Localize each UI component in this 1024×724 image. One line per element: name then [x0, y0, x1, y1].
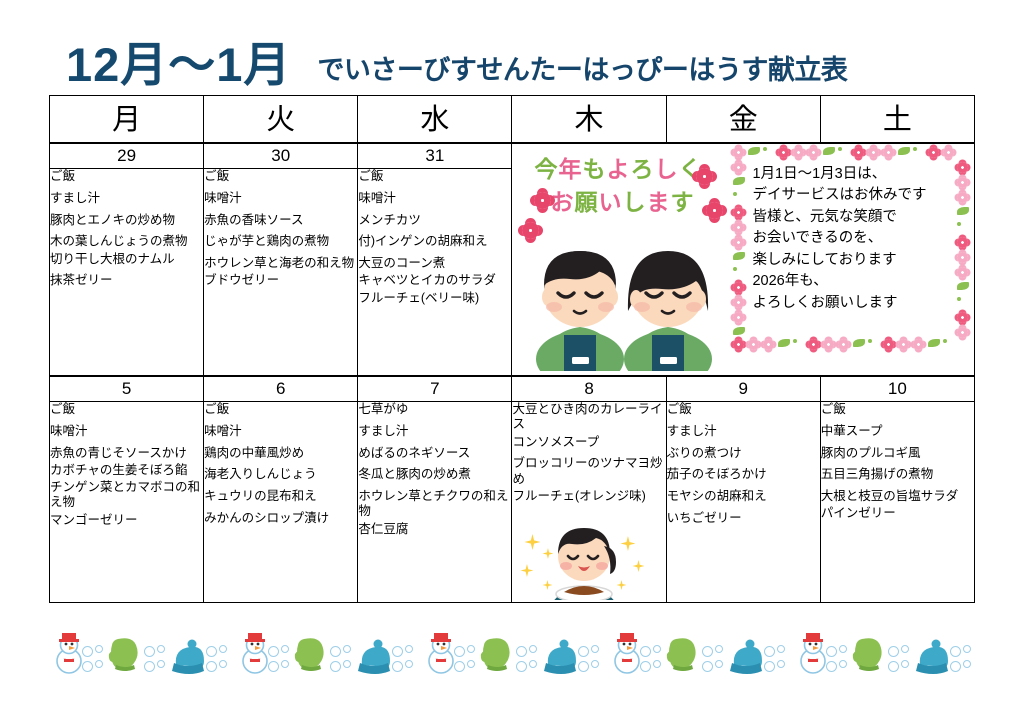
- date-number-5: 5: [50, 376, 204, 402]
- flower-icon: [957, 312, 968, 323]
- flower-icon: [823, 339, 834, 350]
- menu-item: ご飯: [667, 402, 820, 417]
- menu-item: 杏仁豆腐: [358, 522, 511, 537]
- menu-item: キャベツとイカのサラダ: [358, 273, 511, 288]
- mitten-icon: [294, 635, 328, 671]
- menu-item: キュウリの昆布和え: [204, 489, 357, 504]
- menu-item: 赤魚の香味ソース: [204, 213, 357, 228]
- menu-cell-5: ご飯 味噌汁 赤魚の青じそソースかけ カボチャの生姜そぼろ餡 チンゲン菜とカマボ…: [50, 402, 204, 603]
- snow-dot-icon: [219, 660, 227, 668]
- mitten-icon: [852, 635, 886, 671]
- menu-item: 味噌汁: [204, 424, 357, 439]
- flower-icon: [853, 147, 864, 158]
- curry-girl-illustration: [512, 518, 665, 600]
- snow-dot-icon: [206, 646, 217, 657]
- menu-item: 大根と枝豆の旨塩サラダ: [821, 489, 974, 504]
- snow-dot-icon: [95, 645, 103, 653]
- snow-dot-icon: [591, 645, 599, 653]
- menu-item: 鶏肉の中華風炒め: [204, 446, 357, 461]
- flower-icon: [957, 162, 968, 173]
- flower-icon: [808, 147, 819, 158]
- menu-item: 切り干し大根のナムル: [50, 252, 203, 267]
- snowman-icon: [240, 631, 270, 675]
- menu-item: 茄子のそぼろかけ: [667, 467, 820, 482]
- snow-dot-icon: [591, 660, 599, 668]
- menu-item: 味噌汁: [50, 424, 203, 439]
- flower-icon: [883, 147, 894, 158]
- flower-icon: [928, 147, 939, 158]
- menu-cell-7: 七草がゆ すまし汁 めばるのネギソース 冬瓜と豚肉の炒め煮 ホウレン草とチクワの…: [358, 402, 512, 603]
- week2-menu-row: ご飯 味噌汁 赤魚の青じそソースかけ カボチャの生姜そぼろ餡 チンゲン菜とカマボ…: [50, 402, 975, 603]
- notice-line: 楽しみにしております: [752, 250, 956, 271]
- menu-item: ホウレン草とチクワの和え物: [358, 489, 511, 520]
- snow-dot-icon: [343, 645, 351, 653]
- beanie-hat-icon: [542, 639, 578, 675]
- leaf-icon: [748, 147, 760, 155]
- flower-icon: [838, 339, 849, 350]
- flower-icon: [838, 147, 842, 151]
- menu-item: ご飯: [50, 169, 203, 184]
- flower-icon: [793, 339, 797, 343]
- snow-dot-icon: [343, 660, 351, 668]
- snow-dot-icon: [702, 646, 713, 657]
- menu-item: ご飯: [358, 169, 511, 184]
- snow-dot-icon: [839, 660, 847, 668]
- snow-dot-icon: [826, 646, 837, 657]
- week2-date-row: 5 6 7 8 9 10: [50, 376, 975, 402]
- menu-item: ぶりの煮つけ: [667, 446, 820, 461]
- menu-item: いちごゼリー: [667, 511, 820, 526]
- menu-item: ブドウゼリー: [204, 273, 357, 288]
- menu-item: フルーチェ(オレンジ味): [512, 489, 665, 504]
- day-header-tue: 火: [204, 96, 358, 144]
- staff-bowing-icon: [622, 231, 714, 371]
- snow-dot-icon: [839, 645, 847, 653]
- menu-cell-29: ご飯 すまし汁 豚肉とエノキの炒め物 木の葉しんじょうの煮物 切り干し大根のナム…: [50, 169, 204, 377]
- snow-dot-icon: [640, 646, 651, 657]
- flower-icon: [957, 237, 968, 248]
- notice-line: 皆様と、元気な笑顔で: [752, 207, 956, 228]
- snow-dot-icon: [82, 646, 93, 657]
- snow-dot-icon: [950, 646, 961, 657]
- flower-icon: [733, 147, 744, 158]
- snow-dot-icon: [640, 661, 651, 672]
- day-of-week-header-row: 月 火 水 木 金 土: [50, 96, 975, 144]
- menu-cell-9: ご飯 すまし汁 ぶりの煮つけ 茄子のそぼろかけ モヤシの胡麻和え いちごゼリー: [666, 402, 820, 603]
- page-header: 12月〜1月 でいさーびすせんたーはっぴーはうす献立表: [0, 26, 1024, 88]
- menu-item: ご飯: [50, 402, 203, 417]
- notice-line: よろしくお願いします: [752, 293, 956, 314]
- date-number-30: 30: [204, 143, 358, 169]
- beanie-hat-icon: [914, 639, 950, 675]
- sparkle-icon: [632, 560, 644, 572]
- snow-dot-icon: [144, 646, 155, 657]
- flower-icon: [793, 147, 804, 158]
- menu-item: 付)インゲンの胡麻和え: [358, 234, 511, 249]
- menu-item: 豚肉のプルコギ風: [821, 446, 974, 461]
- snowman-icon: [426, 631, 456, 675]
- holiday-notice: 1月1日〜1月3日は、 デイサービスはお休みです 皆様と、元気な笑顔で お会いで…: [730, 144, 974, 375]
- snow-dot-icon: [467, 660, 475, 668]
- snow-dot-icon: [715, 645, 723, 653]
- flower-icon: [733, 207, 744, 218]
- snow-dot-icon: [764, 661, 775, 672]
- flower-icon: [763, 339, 774, 350]
- snow-dot-icon: [950, 661, 961, 672]
- flower-icon: [733, 339, 744, 350]
- flower-icon: [943, 147, 954, 158]
- leaf-icon: [733, 327, 745, 335]
- notice-line: 1月1日〜1月3日は、: [752, 164, 956, 185]
- date-number-10: 10: [820, 376, 974, 402]
- snow-dot-icon: [405, 660, 413, 668]
- flower-icon: [913, 147, 917, 151]
- flower-icon: [957, 192, 968, 203]
- snow-dot-icon: [777, 660, 785, 668]
- menu-item: フルーチェ(ベリー味): [358, 291, 511, 306]
- leaf-icon: [733, 252, 745, 260]
- new-year-greeting: 今年もよろしく お願いします: [520, 150, 730, 222]
- flower-icon: [943, 339, 947, 343]
- date-number-31: 31: [358, 143, 512, 169]
- greeting-line-2: お願いします: [550, 183, 694, 217]
- snow-dot-icon: [157, 660, 165, 668]
- snow-dot-icon: [268, 646, 279, 657]
- flower-icon: [883, 339, 894, 350]
- girl-with-curry-icon: [546, 520, 622, 600]
- menu-item: コンソメスープ: [512, 435, 665, 450]
- menu-cell-31: ご飯 味噌汁 メンチカツ 付)インゲンの胡麻和え 大豆のコーン煮 キャベツとイカ…: [358, 169, 512, 377]
- menu-item: 冬瓜と豚肉の炒め煮: [358, 467, 511, 482]
- leaf-icon: [853, 339, 865, 347]
- snow-dot-icon: [454, 646, 465, 657]
- snow-dot-icon: [219, 645, 227, 653]
- menu-item: メンチカツ: [358, 213, 511, 228]
- flower-icon: [957, 252, 968, 263]
- mitten-icon: [480, 635, 514, 671]
- beanie-hat-icon: [356, 639, 392, 675]
- date-number-8: 8: [512, 376, 666, 402]
- snow-dot-icon: [281, 660, 289, 668]
- snow-dot-icon: [157, 645, 165, 653]
- flower-icon: [957, 267, 968, 278]
- snowman-icon: [798, 631, 828, 675]
- menu-cell-8: 大豆とひき肉のカレーライス コンソメスープ ブロッコリーのツナマヨ炒め フルーチ…: [512, 402, 666, 603]
- staff-bowing-icon: [534, 231, 626, 371]
- menu-item: すまし汁: [667, 424, 820, 439]
- snow-dot-icon: [653, 660, 661, 668]
- flower-icon: [957, 297, 961, 301]
- snow-dot-icon: [405, 645, 413, 653]
- notice-line: お会いできるのを、: [752, 228, 956, 249]
- plum-blossom-icon: [706, 202, 723, 219]
- snow-dot-icon: [529, 645, 537, 653]
- menu-item: マンゴーゼリー: [50, 513, 203, 528]
- flower-icon: [763, 147, 767, 151]
- day-header-thu: 木: [512, 96, 666, 144]
- snow-dot-icon: [578, 661, 589, 672]
- sparkle-icon: [620, 536, 635, 551]
- menu-item: ホウレン草と海老の和え物: [204, 256, 357, 271]
- snow-dot-icon: [330, 661, 341, 672]
- snowman-icon: [612, 631, 642, 675]
- week1-date-row: 29 30 31 今年もよろしく お願いします: [50, 143, 975, 169]
- leaf-icon: [957, 282, 969, 290]
- snow-dot-icon: [826, 661, 837, 672]
- snow-dot-icon: [901, 645, 909, 653]
- leaf-icon: [778, 339, 790, 347]
- day-header-sat: 土: [820, 96, 974, 144]
- snow-dot-icon: [529, 660, 537, 668]
- menu-item: 味噌汁: [204, 191, 357, 206]
- greeting-line-1: 今年もよろしく: [534, 150, 702, 184]
- snow-dot-icon: [702, 661, 713, 672]
- snow-dot-icon: [281, 645, 289, 653]
- plum-blossom-icon: [534, 192, 551, 209]
- flower-icon: [748, 339, 759, 350]
- menu-item: 五目三角揚げの煮物: [821, 467, 974, 482]
- day-header-wed: 水: [358, 96, 512, 144]
- flower-icon: [808, 339, 819, 350]
- flower-icon: [733, 282, 744, 293]
- menu-cell-30: ご飯 味噌汁 赤魚の香味ソース じゃが芋と鶏肉の煮物 ホウレン草と海老の和え物 …: [204, 169, 358, 377]
- leaf-icon: [898, 147, 910, 155]
- menu-cell-6: ご飯 味噌汁 鶏肉の中華風炒め 海老入りしんじょう キュウリの昆布和え みかんの…: [204, 402, 358, 603]
- flower-icon: [733, 162, 744, 173]
- menu-item: 大豆のコーン煮: [358, 256, 511, 271]
- snow-dot-icon: [764, 646, 775, 657]
- snow-dot-icon: [392, 646, 403, 657]
- plum-blossom-icon: [696, 168, 713, 185]
- leaf-icon: [733, 177, 745, 185]
- snow-dot-icon: [578, 646, 589, 657]
- notice-line: デイサービスはお休みです: [752, 185, 956, 206]
- menu-item: 七草がゆ: [358, 402, 511, 417]
- flower-icon: [733, 267, 737, 271]
- snow-dot-icon: [268, 661, 279, 672]
- menu-item: チンゲン菜とカマボコの和え物: [50, 480, 203, 511]
- snow-dot-icon: [144, 661, 155, 672]
- flower-icon: [733, 297, 744, 308]
- flower-icon: [733, 192, 737, 196]
- page-title: 12月〜1月: [66, 41, 291, 88]
- menu-item: 豚肉とエノキの炒め物: [50, 213, 203, 228]
- flower-icon: [957, 222, 961, 226]
- menu-item: ブロッコリーのツナマヨ炒め: [512, 456, 665, 487]
- leaf-icon: [823, 147, 835, 155]
- snow-dot-icon: [888, 661, 899, 672]
- menu-item: カボチャの生姜そぼろ餡: [50, 463, 203, 478]
- notice-floral-frame: 1月1日〜1月3日は、 デイサービスはお休みです 皆様と、元気な笑顔で お会いで…: [733, 147, 971, 372]
- notice-text: 1月1日〜1月3日は、 デイサービスはお休みです 皆様と、元気な笑顔で お会いで…: [746, 160, 958, 316]
- menu-item: すまし汁: [358, 424, 511, 439]
- winter-decoration-border: [46, 630, 976, 682]
- leaf-icon: [928, 339, 940, 347]
- new-year-panel: 今年もよろしく お願いします: [512, 143, 975, 376]
- menu-item: じゃが芋と鶏肉の煮物: [204, 234, 357, 249]
- flower-icon: [957, 327, 968, 338]
- menu-item: パインゼリー: [821, 506, 974, 521]
- date-number-29: 29: [50, 143, 204, 169]
- snowman-icon: [54, 631, 84, 675]
- menu-item: 赤魚の青じそソースかけ: [50, 446, 203, 461]
- menu-item: 抹茶ゼリー: [50, 273, 203, 288]
- snow-dot-icon: [963, 645, 971, 653]
- notice-line: 2026年も、: [752, 271, 956, 292]
- flower-icon: [868, 147, 879, 158]
- snow-dot-icon: [206, 661, 217, 672]
- menu-item: 海老入りしんじょう: [204, 467, 357, 482]
- mitten-icon: [666, 635, 700, 671]
- menu-item: モヤシの胡麻和え: [667, 489, 820, 504]
- menu-item: ご飯: [204, 169, 357, 184]
- snow-dot-icon: [392, 661, 403, 672]
- beanie-hat-icon: [728, 639, 764, 675]
- menu-item: すまし汁: [50, 191, 203, 206]
- beanie-hat-icon: [170, 639, 206, 675]
- snow-dot-icon: [82, 661, 93, 672]
- date-number-9: 9: [666, 376, 820, 402]
- menu-item: 木の葉しんじょうの煮物: [50, 234, 203, 249]
- menu-item: 中華スープ: [821, 424, 974, 439]
- menu-calendar-table: 月 火 水 木 金 土 29 30 31 今年もよろしく: [49, 95, 975, 603]
- date-number-6: 6: [204, 376, 358, 402]
- flower-icon: [778, 147, 789, 158]
- snow-dot-icon: [330, 646, 341, 657]
- menu-item: みかんのシロップ漬け: [204, 511, 357, 526]
- snow-dot-icon: [777, 645, 785, 653]
- menu-cell-10: ご飯 中華スープ 豚肉のプルコギ風 五目三角揚げの煮物 大根と枝豆の旨塩サラダ …: [820, 402, 974, 603]
- sparkle-icon: [524, 534, 540, 550]
- sparkle-icon: [520, 564, 533, 577]
- mitten-icon: [108, 635, 142, 671]
- menu-item: めばるのネギソース: [358, 446, 511, 461]
- day-header-fri: 金: [666, 96, 820, 144]
- menu-item: 味噌汁: [358, 191, 511, 206]
- new-year-illustration: 今年もよろしく お願いします: [512, 144, 730, 375]
- flower-icon: [733, 237, 744, 248]
- flower-icon: [733, 312, 744, 323]
- flower-icon: [733, 222, 744, 233]
- menu-item: ご飯: [204, 402, 357, 417]
- snow-dot-icon: [516, 646, 527, 657]
- snow-dot-icon: [888, 646, 899, 657]
- menu-item: 大豆とひき肉のカレーライス: [512, 402, 665, 433]
- date-number-7: 7: [358, 376, 512, 402]
- snow-dot-icon: [901, 660, 909, 668]
- flower-icon: [913, 339, 924, 350]
- flower-icon: [957, 177, 968, 188]
- snow-dot-icon: [653, 645, 661, 653]
- menu-item: ご飯: [821, 402, 974, 417]
- snow-dot-icon: [95, 660, 103, 668]
- snow-dot-icon: [467, 645, 475, 653]
- snow-dot-icon: [454, 661, 465, 672]
- page-subtitle: でいさーびすせんたーはっぴーはうす献立表: [317, 57, 847, 88]
- snow-dot-icon: [715, 660, 723, 668]
- snow-dot-icon: [963, 660, 971, 668]
- leaf-icon: [957, 207, 969, 215]
- snow-dot-icon: [516, 661, 527, 672]
- flower-icon: [898, 339, 909, 350]
- flower-icon: [868, 339, 872, 343]
- day-header-mon: 月: [50, 96, 204, 144]
